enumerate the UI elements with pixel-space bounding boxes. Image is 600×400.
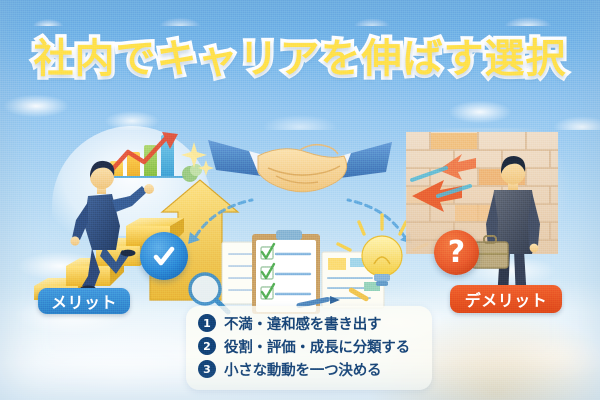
poster-canvas: 社内でキャリアを伸ばす選択 ? メリット デメリット 1 不満・違和感を書き出す… — [0, 0, 600, 400]
paper-texture — [0, 0, 600, 400]
